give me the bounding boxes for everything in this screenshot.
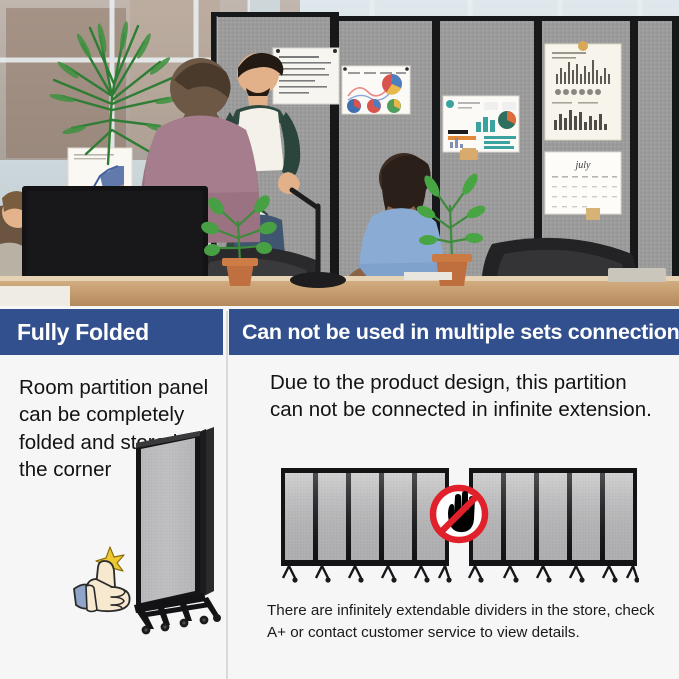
section-header-no-multiple-sets: Can not be used in multiple sets connect…: [229, 309, 679, 355]
right-column: Due to the product design, this partitio…: [229, 355, 679, 679]
product-infographic-page: july: [0, 0, 679, 679]
thumbs-up-icon: [70, 543, 148, 615]
right-note-text: There are infinitely extendable dividers…: [267, 600, 667, 643]
right-header-text: Can not be used in multiple sets connect…: [229, 320, 679, 345]
right-body-text: Due to the product design, this partitio…: [270, 369, 665, 424]
two-partition-sets-illustration: [279, 460, 639, 590]
column-divider: [226, 311, 228, 679]
left-column: Room partition panel can be completely f…: [0, 355, 226, 679]
office-room-partition-photo: july: [0, 0, 679, 306]
left-header-text: Fully Folded: [0, 319, 149, 346]
section-header-fully-folded: Fully Folded: [0, 309, 223, 355]
svg-text:july: july: [574, 160, 592, 171]
